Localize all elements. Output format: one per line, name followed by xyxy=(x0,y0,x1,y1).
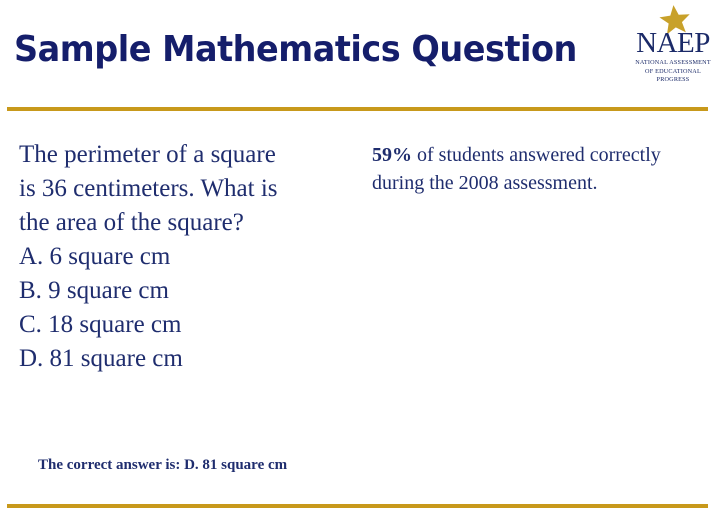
question-stem-line-2: is 36 centimeters. What is xyxy=(19,172,359,206)
question-stem-line-1: The perimeter of a square xyxy=(19,138,359,172)
naep-tagline-line-2: OF EDUCATIONAL xyxy=(633,68,713,77)
answer-choices: A. 6 square cm B. 9 square cm C. 18 squa… xyxy=(19,240,359,376)
answer-choice-c[interactable]: C. 18 square cm xyxy=(19,308,359,342)
correct-answer-label: The correct answer is: D. 81 square cm xyxy=(38,455,287,475)
question-stem: The perimeter of a square is 36 centimet… xyxy=(19,138,359,240)
answer-choice-b[interactable]: B. 9 square cm xyxy=(19,274,359,308)
naep-tagline-line-1: NATIONAL ASSESSMENT xyxy=(633,59,713,68)
page-title: Sample Mathematics Question xyxy=(14,28,577,72)
naep-logo: NAEP NATIONAL ASSESSMENT OF EDUCATIONAL … xyxy=(633,2,713,94)
answer-choice-a[interactable]: A. 6 square cm xyxy=(19,240,359,274)
statistic-percent: 59% xyxy=(372,144,412,166)
naep-tagline-line-3: PROGRESS xyxy=(633,76,713,85)
answer-choice-d[interactable]: D. 81 square cm xyxy=(19,342,359,376)
divider-bottom xyxy=(7,504,708,508)
slide: Sample Mathematics Question NAEP NATIONA… xyxy=(0,0,717,518)
question-stem-line-3: the area of the square? xyxy=(19,206,359,240)
statistic-block: 59% of students answered correctly durin… xyxy=(372,141,662,197)
naep-tagline: NATIONAL ASSESSMENT OF EDUCATIONAL PROGR… xyxy=(633,59,713,85)
statistic-text: of students answered correctly during th… xyxy=(372,144,661,194)
question-block: The perimeter of a square is 36 centimet… xyxy=(19,138,359,376)
divider-top xyxy=(7,107,708,111)
naep-wordmark: NAEP xyxy=(633,28,713,58)
